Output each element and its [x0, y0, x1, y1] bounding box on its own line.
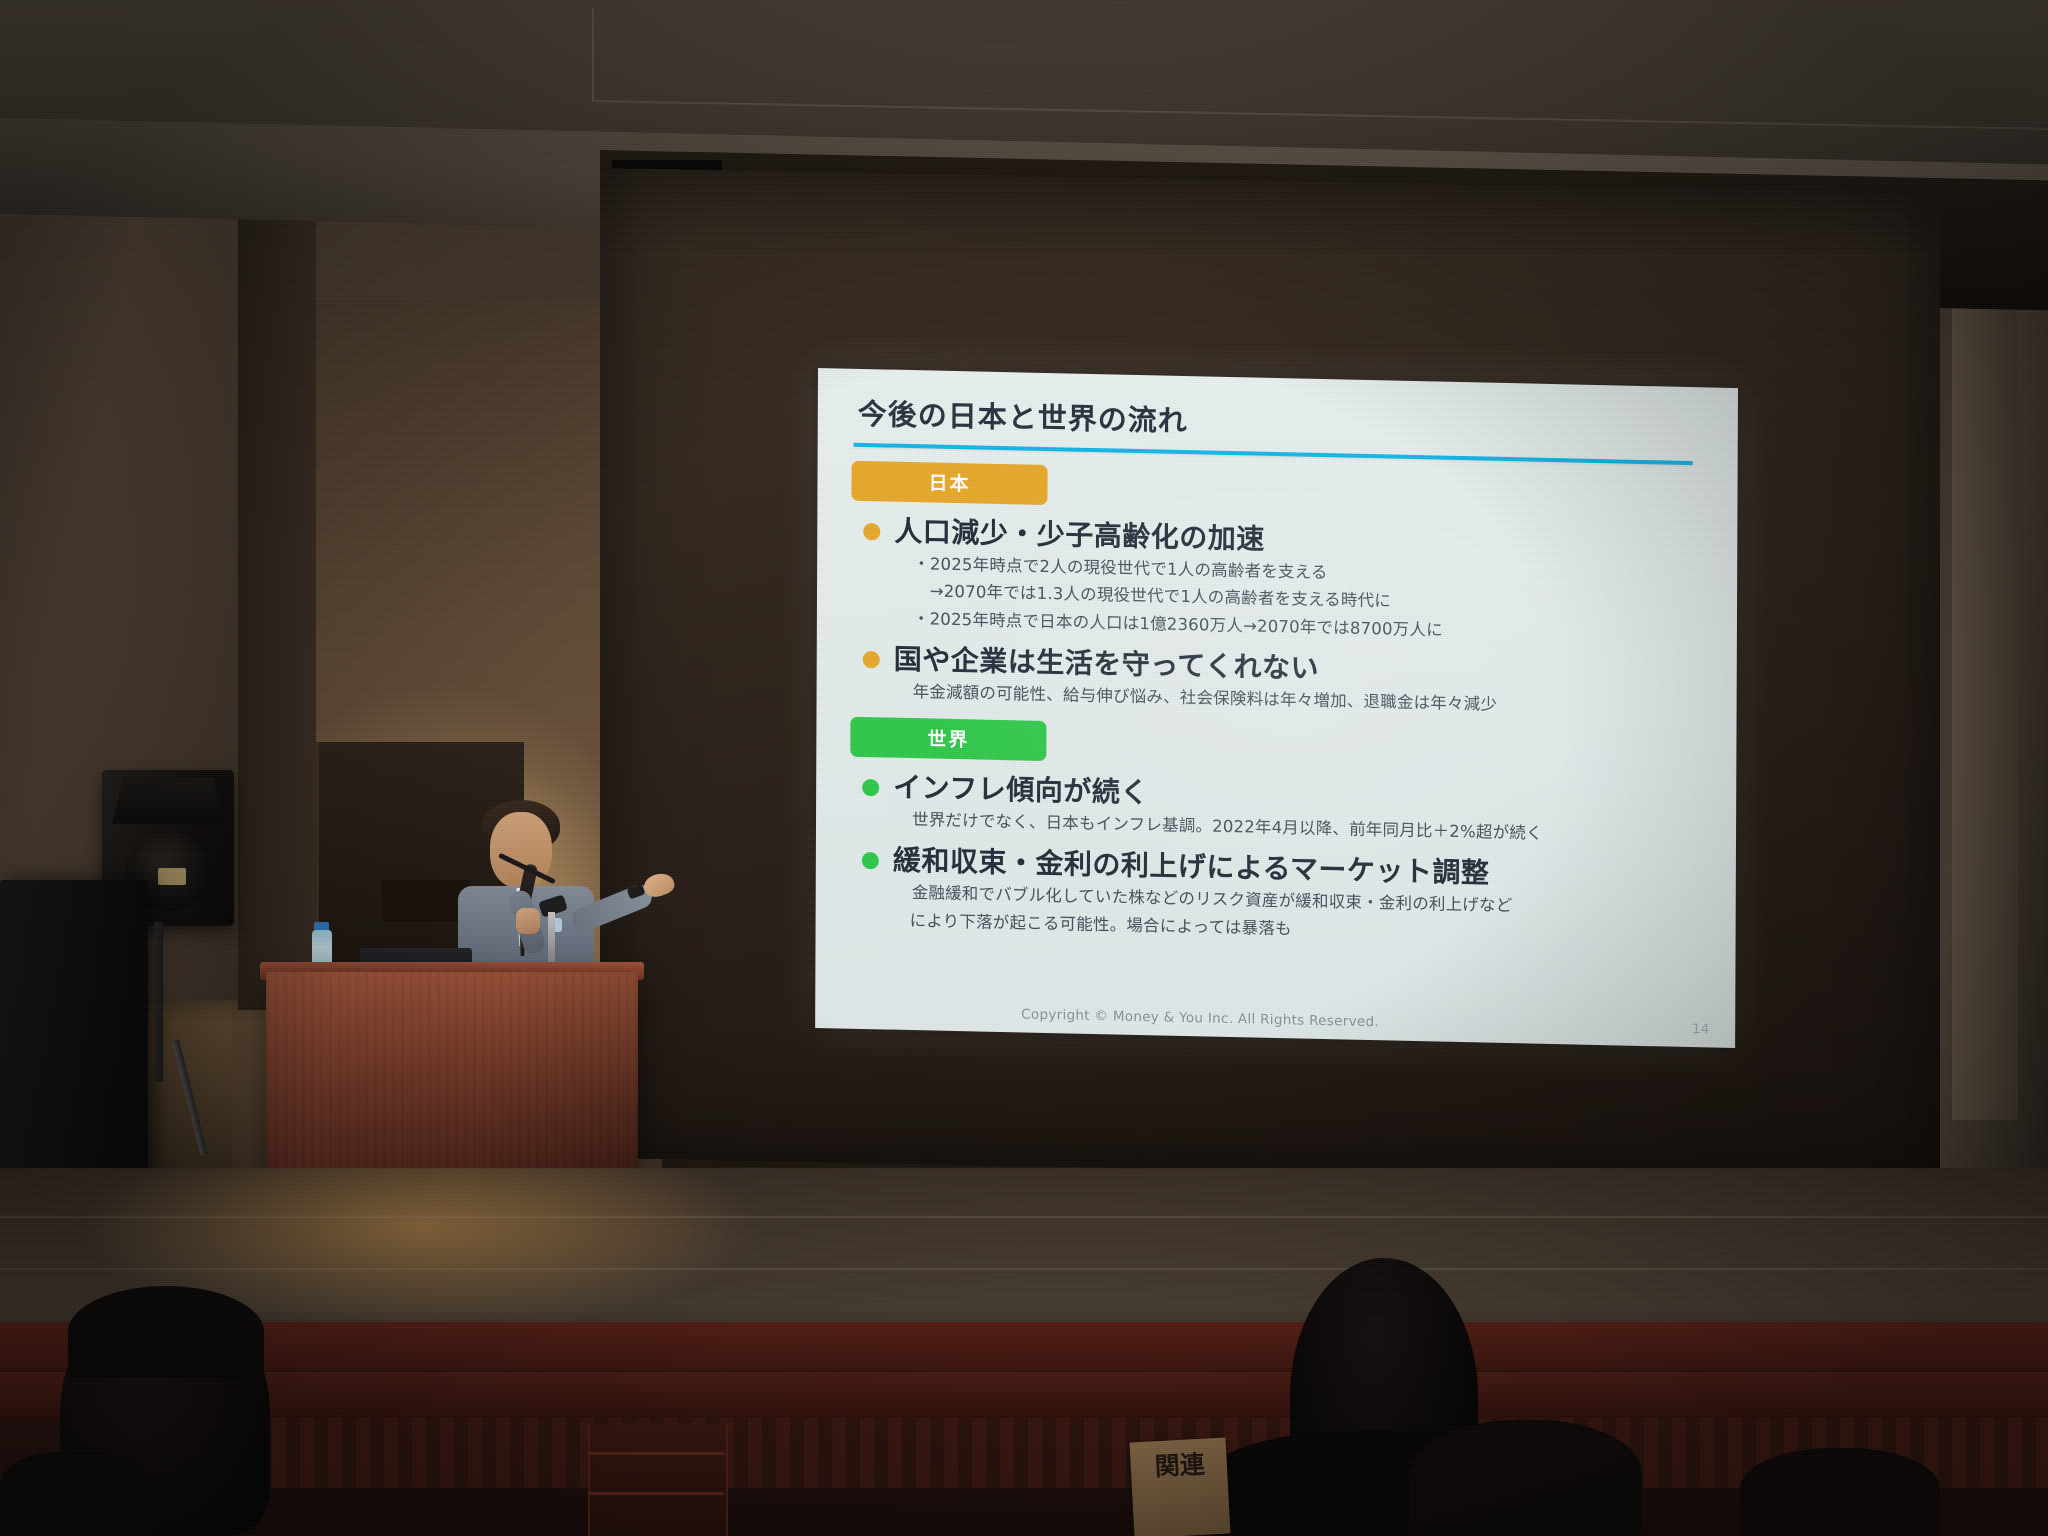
audience-silhouette: [1410, 1420, 1642, 1536]
bullet-heading: インフレ傾向が続く: [893, 770, 1149, 809]
bullet-dot-icon: [862, 779, 879, 796]
pa-speaker-horn: [112, 778, 224, 824]
photo-scene: 今後の日本と世界の流れ 日本 人口減少・少子高齢化の加速 ・2025年時点で2人…: [0, 0, 2048, 1536]
bullet-dot-icon: [862, 852, 879, 869]
audience-cap: [68, 1286, 264, 1378]
pa-speaker-brand-badge: [158, 868, 186, 885]
section-badge-world: 世界: [850, 716, 1046, 760]
bullet-heading: 人口減少・少子高齢化の加速: [894, 515, 1265, 556]
projected-slide: 今後の日本と世界の流れ 日本 人口減少・少子高齢化の加速 ・2025年時点で2人…: [815, 368, 1738, 1048]
stage-stairs: [588, 1424, 728, 1536]
stage-floor-seam: [0, 1268, 2048, 1270]
front-row-rail: [0, 1372, 2048, 1418]
presenter-mic-hand: [516, 908, 540, 934]
bullet-dot-icon: [863, 651, 880, 668]
stage-stair-step: [588, 1492, 724, 1495]
booklet-text: 関連: [1130, 1438, 1228, 1482]
section-badge-japan: 日本: [851, 461, 1047, 505]
audience-silhouette: [1740, 1448, 1940, 1536]
copyright-text: Copyright © Money & You Inc. All Rights …: [1021, 1006, 1379, 1030]
audience-booklet: 関連: [1130, 1438, 1231, 1536]
pa-speaker-pole: [154, 922, 163, 1082]
stage-floor-seam: [0, 1216, 2048, 1218]
slide-title: 今後の日本と世界の流れ: [852, 391, 1708, 452]
audience-silhouette: [0, 1452, 150, 1536]
bullet-heading: 国や企業は生活を守ってくれない: [894, 643, 1319, 685]
right-wall-pillar-face: [1952, 240, 2018, 1120]
slide-page-number: 14: [1692, 1021, 1709, 1037]
stage-stair-step: [588, 1452, 724, 1455]
bullet-dot-icon: [863, 523, 880, 540]
